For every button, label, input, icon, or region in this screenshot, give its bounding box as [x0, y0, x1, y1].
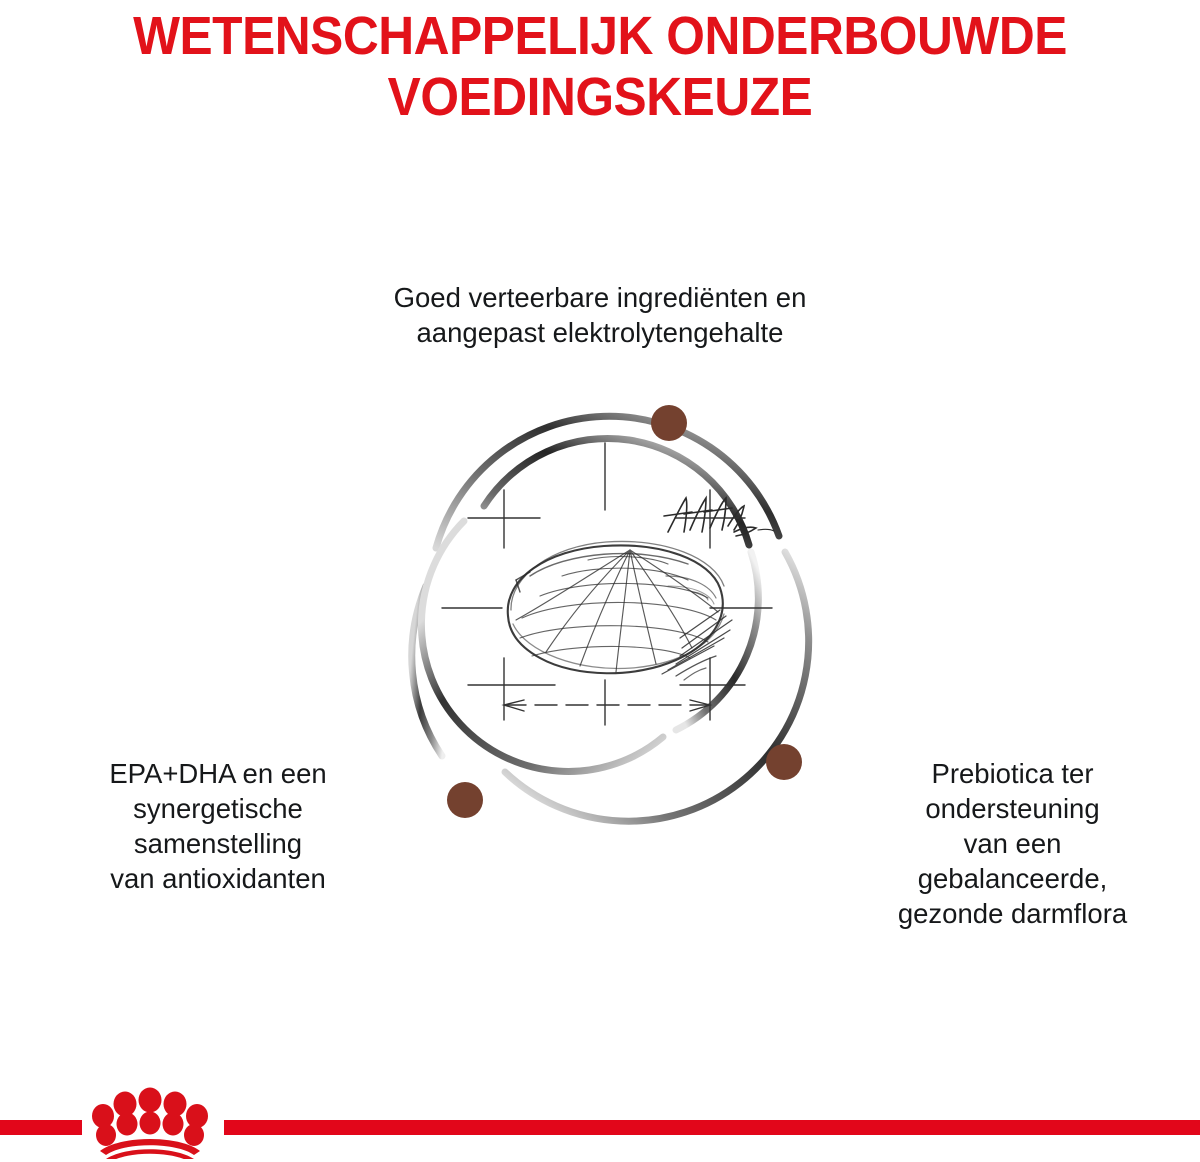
kibble-diagram-svg	[380, 380, 840, 850]
footer-bar-left	[0, 1120, 82, 1135]
handwritten-annotation	[664, 498, 774, 536]
dot-right	[766, 744, 802, 780]
dimension-line	[504, 700, 710, 711]
inner-ring-arc-top	[484, 438, 749, 545]
kibble-diagram	[380, 380, 840, 850]
promo-panel: Wetenschappelijk onderbouwde voedingskeu…	[0, 0, 1200, 1162]
dot-bottom-left	[447, 782, 483, 818]
callout-digestibility: Goed verteerbare ingrediënten en aangepa…	[330, 281, 870, 351]
royal-canin-crown-logo	[86, 1083, 214, 1159]
crown-logo-svg	[86, 1083, 214, 1159]
dot-top	[651, 405, 687, 441]
callout-antioxidants: EPA+DHA en een synergetische samenstelli…	[28, 757, 408, 897]
callout-prebiotics: Prebiotica ter ondersteuning van een geb…	[840, 757, 1185, 932]
kibble-sketch	[508, 541, 732, 680]
outer-ring	[412, 416, 809, 821]
footer-bar-right	[224, 1120, 1200, 1135]
brand-footer	[0, 1080, 1200, 1162]
page-title: Wetenschappelijk onderbouwde voedingskeu…	[48, 6, 1152, 128]
inner-ring	[421, 438, 758, 771]
crown-arc-lower	[106, 1149, 194, 1159]
